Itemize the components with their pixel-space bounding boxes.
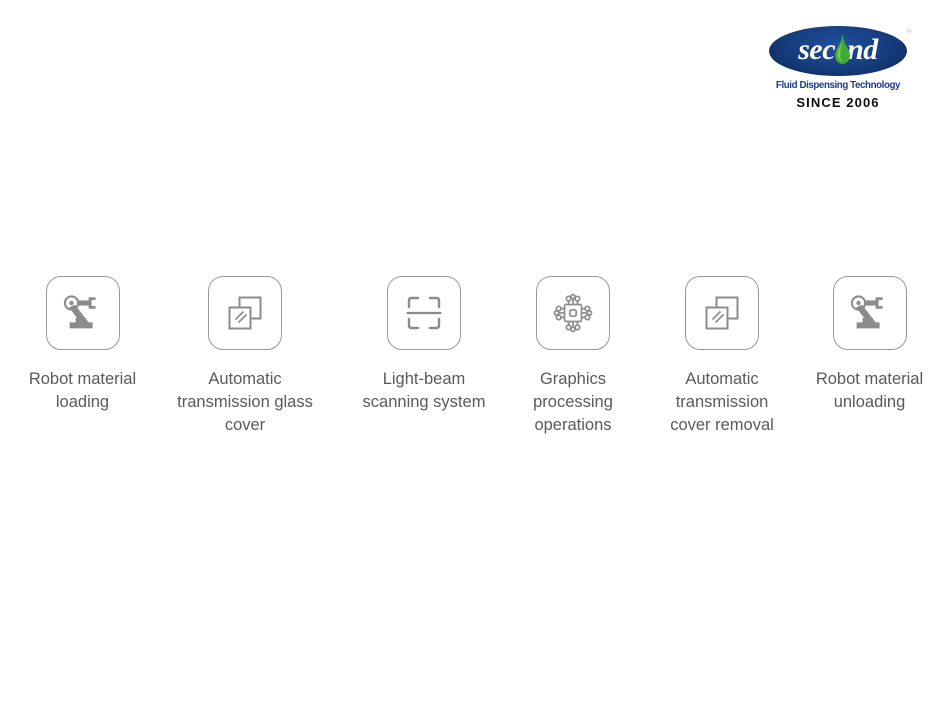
logo-tagline: Fluid Dispensing Technology [767,79,908,91]
brand-logo: sec nd ® Fluid Dispensing Technology SIN… [762,24,914,112]
step-caption: Light-beam scanning system [363,368,486,414]
robot-arm-icon [62,292,104,334]
logo-since-year: SINCE 2006 [762,95,914,110]
process-step-3: Light-beam scanning system [352,276,496,414]
glass-cover-layers-icon [701,292,743,334]
registered-trademark-mark: ® [906,27,912,36]
process-step-2: Automatic transmission glass cover [166,276,324,437]
logo-wordmark-pre: sec [798,35,835,65]
step-caption: Robot material unloading [816,368,923,414]
step-caption: Graphics processing operations [533,368,613,437]
step-icon-box [46,276,120,350]
process-step-4: Graphics processing operations [516,276,630,437]
scan-frame-icon [403,292,445,334]
green-water-drop-icon [835,33,850,64]
step-icon-box [208,276,282,350]
process-step-6: Robot material unloading [804,276,935,414]
glass-cover-layers-icon [224,292,266,334]
logo-wordmark-post: nd [847,35,878,65]
step-icon-box [387,276,461,350]
robot-arm-icon [849,292,891,334]
process-step-5: Automatic transmission cover removal [654,276,790,437]
step-caption: Robot material loading [29,368,136,414]
process-step-1: Robot material loading [17,276,148,414]
step-icon-box [536,276,610,350]
step-icon-box [833,276,907,350]
cpu-chip-icon [552,292,594,334]
step-icon-box [685,276,759,350]
step-caption: Automatic transmission glass cover [177,368,313,437]
step-caption: Automatic transmission cover removal [670,368,774,437]
logo-badge: sec nd ® [762,24,914,78]
